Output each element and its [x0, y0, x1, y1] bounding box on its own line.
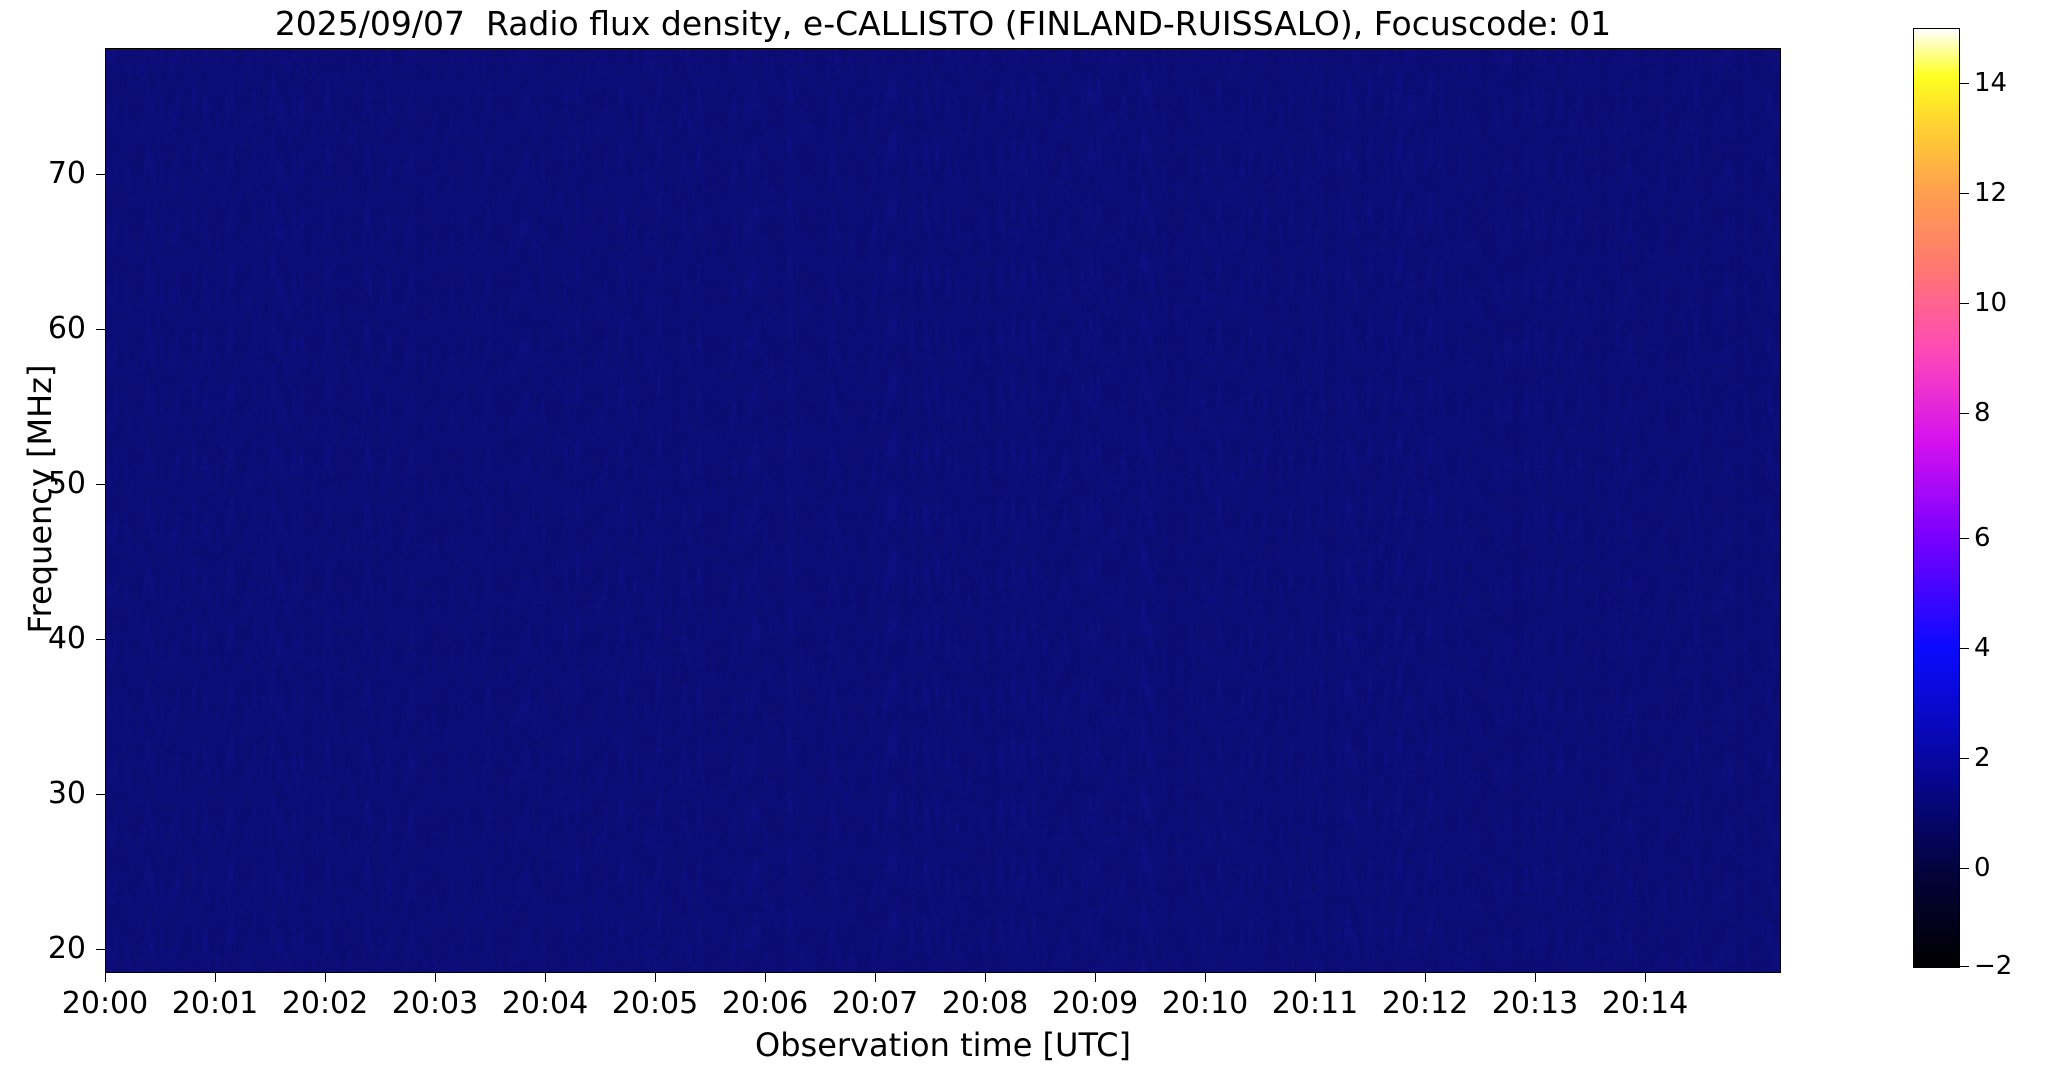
spectrogram-heatmap-image — [106, 49, 1780, 972]
y-tick-mark — [96, 174, 105, 175]
x-tick-mark — [1315, 973, 1316, 982]
x-tick-mark — [1095, 973, 1096, 982]
x-tick-mark — [435, 973, 436, 982]
x-tick-mark — [765, 973, 766, 982]
colorbar-tick-label: 2 — [1974, 745, 1991, 771]
x-tick-mark — [325, 973, 326, 982]
plot-area[interactable] — [105, 48, 1781, 973]
y-tick-mark — [96, 484, 105, 485]
colorbar-tick-mark — [1960, 758, 1969, 759]
colorbar-tick-mark — [1960, 83, 1969, 84]
colorbar-tick-mark — [1960, 193, 1969, 194]
x-tick-mark — [1535, 973, 1536, 982]
y-tick-mark — [96, 794, 105, 795]
y-tick-label: 20 — [0, 934, 86, 964]
x-tick-mark — [545, 973, 546, 982]
x-tick-mark — [105, 973, 106, 982]
x-tick-label: 20:14 — [1565, 986, 1725, 1022]
spectrogram-figure: 2025/09/07 Radio flux density, e-CALLIST… — [0, 0, 2047, 1067]
colorbar[interactable] — [1913, 28, 1960, 968]
colorbar-tick-label: 10 — [1974, 290, 2007, 316]
x-tick-mark — [985, 973, 986, 982]
colorbar-tick-mark — [1960, 413, 1969, 414]
x-axis-label: Observation time [UTC] — [105, 1026, 1781, 1064]
x-tick-mark — [1645, 973, 1646, 982]
y-tick-label: 70 — [0, 159, 86, 189]
colorbar-gradient — [1914, 29, 1959, 967]
y-axis-label: Frequency [MHz] — [21, 219, 59, 779]
colorbar-tick-label: 4 — [1974, 635, 1991, 661]
x-tick-mark — [1425, 973, 1426, 982]
colorbar-tick-label: 6 — [1974, 525, 1991, 551]
x-tick-mark — [215, 973, 216, 982]
colorbar-tick-mark — [1960, 538, 1969, 539]
colorbar-tick-label: 8 — [1974, 400, 1991, 426]
x-tick-mark — [1205, 973, 1206, 982]
colorbar-tick-mark — [1960, 868, 1969, 869]
page-title: 2025/09/07 Radio flux density, e-CALLIST… — [105, 4, 1781, 44]
x-tick-mark — [875, 973, 876, 982]
y-tick-label: 30 — [0, 779, 86, 809]
colorbar-tick-label: 14 — [1974, 70, 2007, 96]
y-tick-mark — [96, 329, 105, 330]
x-tick-mark — [655, 973, 656, 982]
colorbar-tick-mark — [1960, 303, 1969, 304]
colorbar-tick-label: 12 — [1974, 180, 2007, 206]
colorbar-tick-label: 0 — [1974, 855, 1991, 881]
colorbar-tick-mark — [1960, 966, 1969, 967]
y-tick-mark — [96, 949, 105, 950]
y-tick-mark — [96, 639, 105, 640]
colorbar-tick-mark — [1960, 648, 1969, 649]
colorbar-tick-label: −2 — [1974, 953, 2012, 979]
